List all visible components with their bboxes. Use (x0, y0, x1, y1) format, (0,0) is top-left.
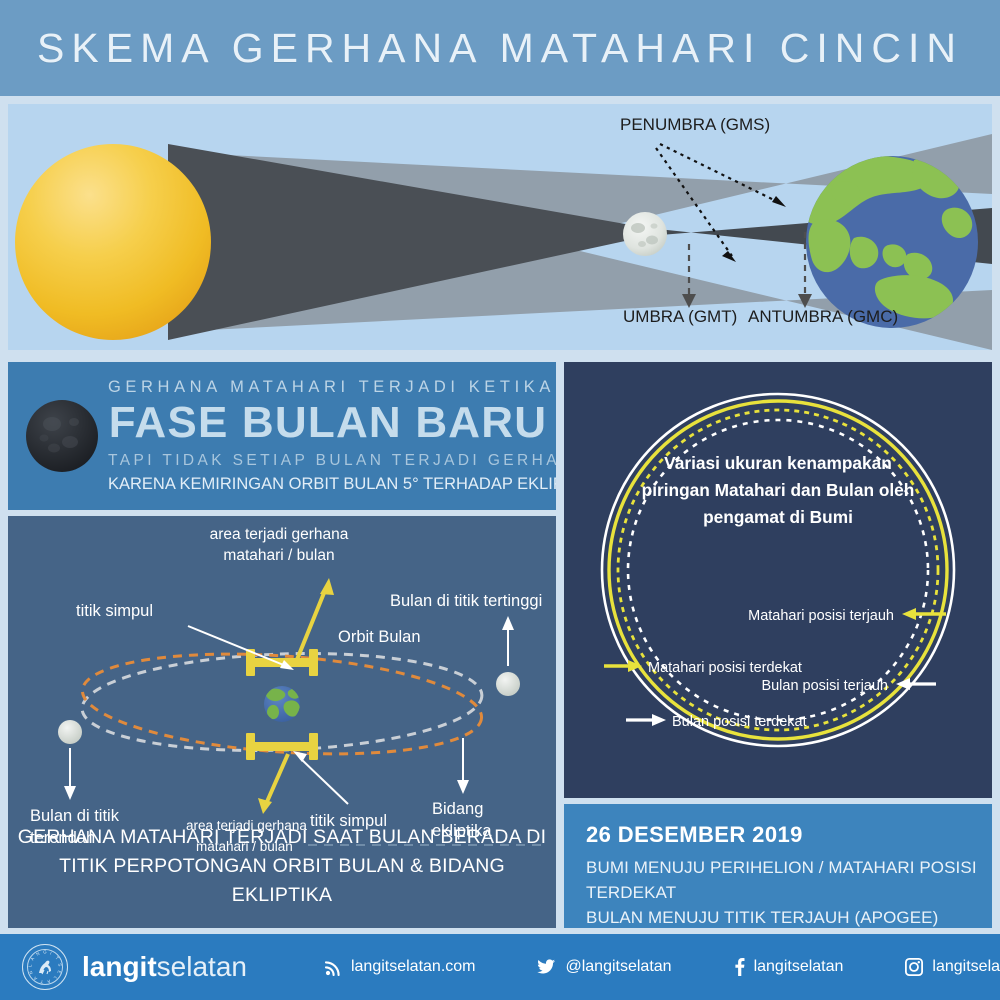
apparent-size-panel: Matahari posisi terjauh Matahari posisi … (564, 362, 992, 798)
event-detail-block: BUMI MENUJU PERIHELION / MATAHARI POSISI… (586, 855, 992, 930)
new-moon-text-block: GERHANA MATAHARI TERJADI KETIKA FASE BUL… (108, 378, 548, 494)
apparent-size-title: Variasi ukuran kenampakan piringan Matah… (612, 450, 944, 531)
footer-link-facebook[interactable]: langitselatan (734, 958, 844, 976)
ecliptic-label-1: Bidang (432, 800, 483, 818)
orbit-caption-line2: TITIK PERPOTONGAN ORBIT BULAN & BIDANG E… (8, 852, 556, 910)
apparent-size-svg: Matahari posisi terjauh Matahari posisi … (564, 362, 992, 798)
twitter-icon (537, 959, 556, 976)
apparent-size-title-line1: Variasi ukuran kenampakan (612, 450, 944, 477)
eclipse-area-top-label-2: matahari / bulan (223, 547, 334, 564)
website-label: langitselatan.com (351, 958, 476, 976)
instagram-icon (905, 958, 923, 976)
footer-link-twitter[interactable]: @langitselatan (537, 958, 671, 976)
twitter-label: @langitselatan (565, 958, 671, 976)
antumbra-label: ANTUMBRA (GMC) (748, 307, 898, 326)
infographic-page: SKEMA GERHANA MATAHARI CINCIN (0, 0, 1000, 1000)
moon-highest-label: Bulan di titik tertinggi (390, 592, 542, 610)
brand-wordmark[interactable]: langitselatan (82, 951, 247, 983)
moon-highest-marker (496, 672, 520, 696)
page-header: SKEMA GERHANA MATAHARI CINCIN (0, 0, 1000, 96)
orbit-caption: GERHANA MATAHARI TERJADI SAAT BULAN BERA… (8, 823, 556, 910)
penumbra-label: PENUMBRA (GMS) (620, 115, 770, 134)
new-moon-panel: GERHANA MATAHARI TERJADI KETIKA FASE BUL… (8, 362, 556, 510)
sun-nearest-annotation: Matahari posisi terdekat (604, 660, 802, 676)
apparent-size-title-line3: pengamat di Bumi (612, 504, 944, 531)
moon-lowest-marker (58, 720, 82, 744)
sun-farthest-label: Matahari posisi terjauh (748, 608, 894, 624)
moon-orbit-panel: area terjadi gerhana matahari / bulan ti… (8, 516, 556, 928)
node-bottom-annotation: titik simpul (293, 751, 387, 830)
earth-mini (264, 686, 300, 722)
node-top-label: titik simpul (76, 602, 153, 620)
eclipse-area-top-annotation: area terjadi gerhana matahari / bulan (210, 526, 349, 662)
moon-farthest-label: Bulan posisi terjauh (761, 678, 888, 694)
umbra-label: UMBRA (GMT) (623, 307, 737, 326)
facebook-icon (734, 958, 745, 976)
sun-body (15, 144, 211, 340)
sun-farthest-annotation: Matahari posisi terjauh (748, 608, 946, 624)
new-moon-line1: GERHANA MATAHARI TERJADI KETIKA (108, 378, 548, 397)
rss-icon (325, 959, 342, 976)
node-marker-bottom (246, 733, 318, 760)
moon-orbit-label: Orbit Bulan (338, 628, 421, 646)
apparent-size-title-line2: piringan Matahari dan Bulan oleh (612, 477, 944, 504)
moon-nearest-label: Bulan posisi terdekat (672, 714, 807, 730)
langitselatan-logo[interactable]: LANGITSELATAN (22, 944, 68, 990)
footer-link-instagram[interactable]: langitselatanmedia (905, 958, 1000, 976)
sun-nearest-label: Matahari posisi terdekat (648, 660, 802, 676)
moon-nearest-annotation: Bulan posisi terdekat (626, 714, 807, 730)
new-moon-line3: TAPI TIDAK SETIAP BULAN TERJADI GERHANA (108, 452, 548, 470)
moon-farthest-annotation: Bulan posisi terjauh (761, 678, 936, 694)
site-footer: LANGITSELATAN langitselatan langitselata… (0, 934, 1000, 1000)
eclipse-svg: PENUMBRA (GMS) UMBRA (GMT) ANTUMBRA (GMC… (8, 104, 992, 350)
eclipse-geometry-diagram: PENUMBRA (GMS) UMBRA (GMT) ANTUMBRA (GMC… (8, 104, 992, 350)
event-detail-line2: BULAN MENUJU TITIK TERJAUH (APOGEE) (586, 905, 992, 930)
brand-bold: langit (82, 951, 157, 982)
eclipse-area-top-label-1: area terjadi gerhana (210, 526, 349, 543)
event-date: 26 DESEMBER 2019 (586, 822, 992, 848)
footer-link-website[interactable]: langitselatan.com (325, 958, 476, 976)
instagram-label: langitselatanmedia (932, 958, 1000, 976)
brand-light: selatan (157, 951, 247, 982)
event-date-panel: 26 DESEMBER 2019 BUMI MENUJU PERIHELION … (564, 804, 992, 928)
orbit-caption-line1: GERHANA MATAHARI TERJADI SAAT BULAN BERA… (8, 823, 556, 852)
new-moon-headline: FASE BULAN BARU (108, 398, 548, 448)
facebook-label: langitselatan (754, 958, 844, 976)
new-moon-line4: KARENA KEMIRINGAN ORBIT BULAN 5° TERHADA… (108, 475, 548, 494)
page-title: SKEMA GERHANA MATAHARI CINCIN (37, 25, 963, 72)
new-moon-icon (24, 398, 100, 474)
event-detail-line1: BUMI MENUJU PERIHELION / MATAHARI POSISI… (586, 855, 992, 905)
logo-horse-icon (34, 956, 56, 978)
moon-body (623, 212, 667, 256)
